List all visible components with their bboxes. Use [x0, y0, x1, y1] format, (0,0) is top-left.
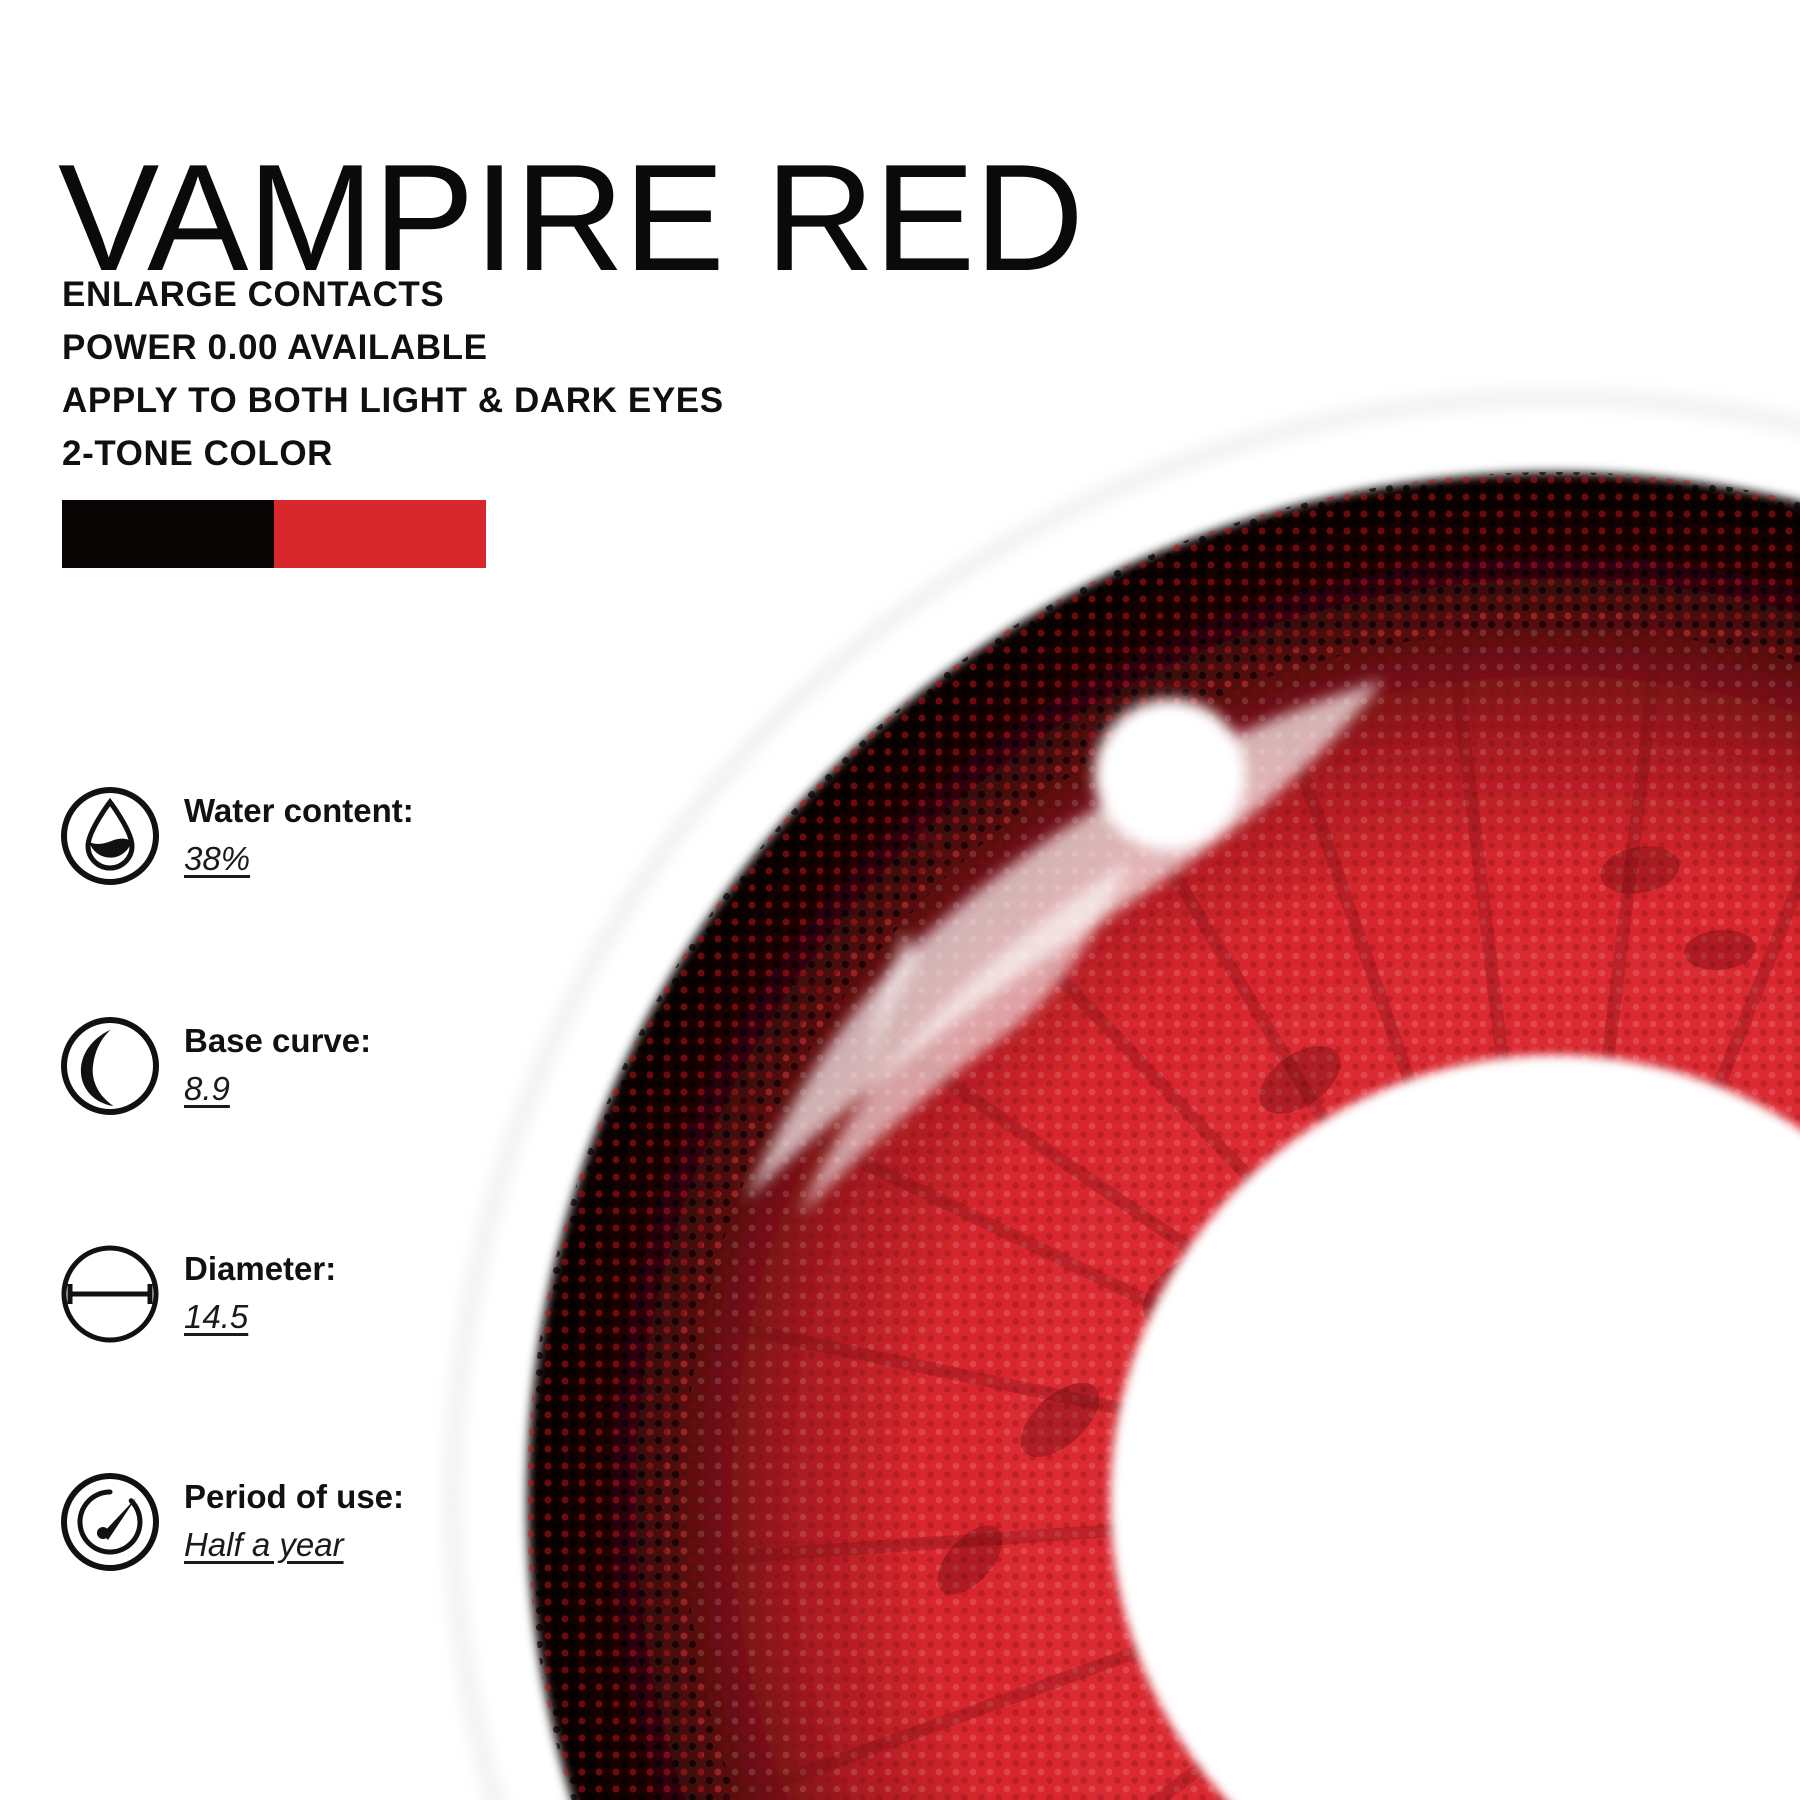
spec-value: Half a year — [184, 1522, 404, 1568]
swatch-tone-two — [274, 500, 486, 568]
color-swatch-bar — [62, 500, 486, 568]
spec-label: Water content: — [184, 788, 414, 834]
spec-value: 14.5 — [184, 1294, 336, 1340]
feature-item: 2-TONE COLOR — [62, 427, 882, 480]
spec-row-period-of-use: Period of use: Half a year — [58, 1468, 658, 1574]
spec-text: Base curve: 8.9 — [184, 1012, 371, 1112]
swatch-tone-one — [62, 500, 274, 568]
spec-label: Base curve: — [184, 1018, 371, 1064]
spec-text: Water content: 38% — [184, 782, 414, 882]
lens-pupil — [1110, 1055, 1800, 1800]
spec-row-water-content: Water content: 38% — [58, 782, 658, 888]
feature-item: APPLY TO BOTH LIGHT & DARK EYES — [62, 374, 882, 427]
spec-value: 8.9 — [184, 1066, 371, 1112]
feature-item: ENLARGE CONTACTS — [62, 268, 882, 321]
feature-list: ENLARGE CONTACTS POWER 0.00 AVAILABLE AP… — [62, 268, 882, 480]
crescent-moon-icon — [58, 1014, 162, 1118]
spec-label: Period of use: — [184, 1474, 404, 1520]
spec-value: 38% — [184, 836, 414, 882]
gauge-timer-icon — [58, 1470, 162, 1574]
spec-label: Diameter: — [184, 1246, 336, 1292]
spec-row-base-curve: Base curve: 8.9 — [58, 1012, 658, 1118]
iris-speckles — [926, 840, 1758, 1606]
spec-text: Period of use: Half a year — [184, 1468, 404, 1568]
product-infographic: VAMPIRE RED ENLARGE CONTACTS POWER 0.00 … — [0, 0, 1800, 1800]
diameter-caliper-icon — [58, 1242, 162, 1346]
spec-text: Diameter: 14.5 — [184, 1240, 336, 1340]
feature-item: POWER 0.00 AVAILABLE — [62, 321, 882, 374]
spec-row-diameter: Diameter: 14.5 — [58, 1240, 658, 1346]
water-drop-icon — [58, 784, 162, 888]
product-info-panel: VAMPIRE RED ENLARGE CONTACTS POWER 0.00 … — [0, 0, 900, 1800]
